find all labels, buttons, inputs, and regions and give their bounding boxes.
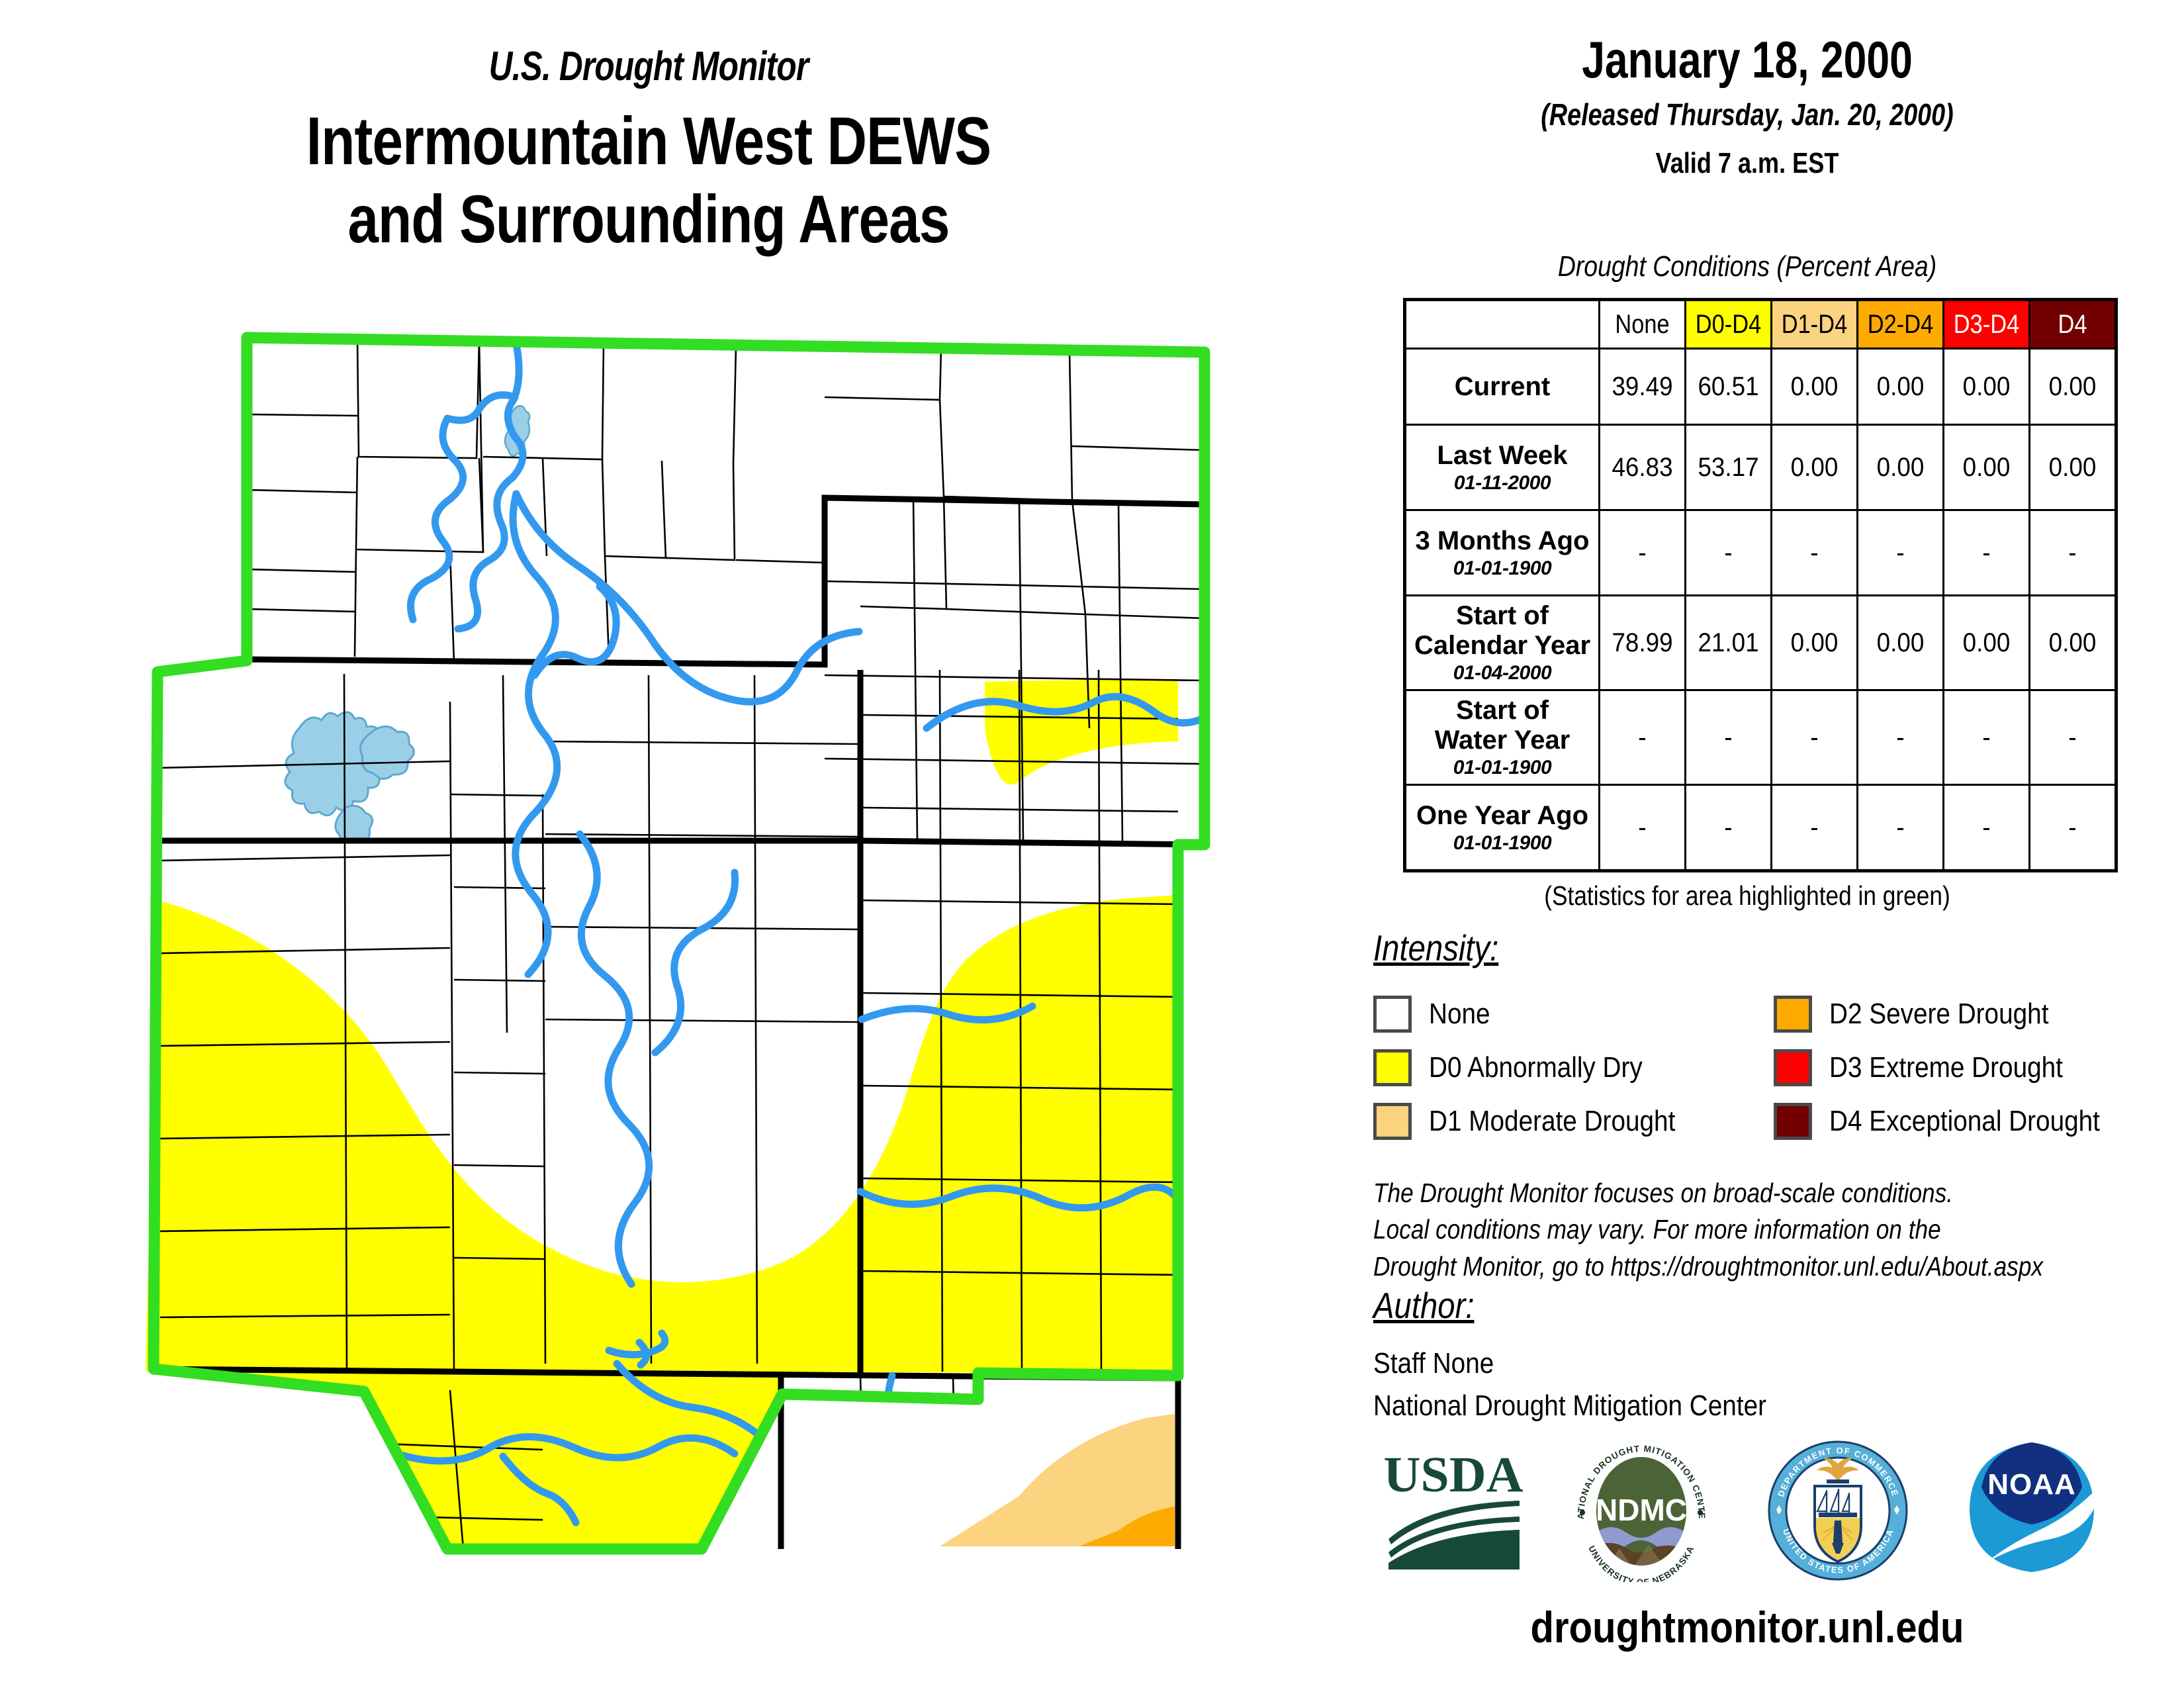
- legend-item-d2: D2 Severe Drought: [1774, 988, 2137, 1041]
- svg-text:NDMC: NDMC: [1596, 1493, 1687, 1527]
- header-blank: [1405, 300, 1600, 349]
- page-eyebrow: U.S. Drought Monitor: [130, 46, 1167, 87]
- cell-scy-d3d4: 0.00: [1944, 596, 2030, 690]
- site-url: droughtmonitor.unl.edu: [1381, 1602, 2115, 1652]
- header-d0-d4: D0-D4: [1686, 300, 1772, 349]
- legend-label-d0: D0 Abnormally Dry: [1429, 1051, 1643, 1084]
- cell-3mo-none: -: [1600, 510, 1686, 596]
- header-d3-d4: D3-D4: [1944, 300, 2030, 349]
- title-block: U.S. Drought Monitor Intermountain West …: [0, 46, 1297, 259]
- legend-label-none: None: [1429, 998, 1490, 1031]
- swatch-d0: [1373, 1049, 1412, 1086]
- table-row: Last Week 01-11-2000 46.83 53.17 0.00 0.…: [1405, 425, 2116, 510]
- cell-1yr-d1d4: -: [1772, 785, 1858, 871]
- map-svg[interactable]: [79, 331, 1310, 1589]
- cell-scy-d2d4: 0.00: [1858, 596, 1944, 690]
- cell-swy-d0d4: -: [1686, 690, 1772, 785]
- cell-lastweek-d0d4: 53.17: [1686, 425, 1772, 510]
- row-label-current: Current: [1405, 349, 1600, 425]
- ndmc-logo: NDMC NATIONAL DROUGHT MITIGATION CENTER …: [1559, 1440, 1724, 1582]
- legend-column-right: D2 Severe Drought D3 Extreme Drought D4 …: [1774, 988, 2137, 1149]
- header-none: None: [1600, 300, 1686, 349]
- cell-current-d1d4: 0.00: [1772, 349, 1858, 425]
- cell-scy-d1d4: 0.00: [1772, 596, 1858, 690]
- cell-1yr-d4: -: [2030, 785, 2116, 871]
- table-row: One Year Ago 01-01-1900 - - - - - -: [1405, 785, 2116, 871]
- statistics-note: (Statistics for area highlighted in gree…: [1388, 880, 2106, 912]
- legend-item-d0: D0 Abnormally Dry: [1373, 1041, 1709, 1094]
- cell-swy-none: -: [1600, 690, 1686, 785]
- legend-label-d2: D2 Severe Drought: [1829, 998, 2048, 1031]
- legend-label-d3: D3 Extreme Drought: [1829, 1051, 2063, 1084]
- author-name: Staff None: [1373, 1342, 1766, 1385]
- disclaimer-text: The Drought Monitor focuses on broad-sca…: [1373, 1175, 2167, 1285]
- cell-1yr-d3d4: -: [1944, 785, 2030, 871]
- cell-current-d4: 0.00: [2030, 349, 2116, 425]
- cell-3mo-d0d4: -: [1686, 510, 1772, 596]
- table-row: Current 39.49 60.51 0.00 0.00 0.00 0.00: [1405, 349, 2116, 425]
- cell-scy-d0d4: 21.01: [1686, 596, 1772, 690]
- swatch-d2: [1774, 996, 1812, 1033]
- cell-current-d2d4: 0.00: [1858, 349, 1944, 425]
- cell-current-none: 39.49: [1600, 349, 1686, 425]
- page-title-line1: Intermountain West DEWS: [116, 102, 1180, 180]
- legend-item-d4: D4 Exceptional Drought: [1774, 1095, 2137, 1148]
- table-row: Start ofWater Year 01-01-1900 - - - - - …: [1405, 690, 2116, 785]
- swatch-none: [1373, 996, 1412, 1033]
- cell-swy-d3d4: -: [1944, 690, 2030, 785]
- legend-column-left: None D0 Abnormally Dry D1 Moderate Droug…: [1373, 988, 1709, 1149]
- cell-1yr-d0d4: -: [1686, 785, 1772, 871]
- drought-statistics-table: None D0-D4 D1-D4 D2-D4 D3-D4 D4 Current …: [1403, 298, 2118, 872]
- header-d4: D4: [2030, 300, 2116, 349]
- intensity-heading: Intensity:: [1373, 927, 1498, 969]
- table-header-row: None D0-D4 D1-D4 D2-D4 D3-D4 D4: [1405, 300, 2116, 349]
- legend-label-d1: D1 Moderate Drought: [1429, 1105, 1675, 1138]
- header-d1-d4: D1-D4: [1772, 300, 1858, 349]
- row-label-start-water-year: Start ofWater Year 01-01-1900: [1405, 690, 1600, 785]
- date-block: January 18, 2000 (Released Thursday, Jan…: [1330, 33, 2164, 180]
- cell-swy-d4: -: [2030, 690, 2116, 785]
- drought-map[interactable]: [79, 331, 1310, 1589]
- row-label-start-calendar-year: Start ofCalendar Year 01-04-2000: [1405, 596, 1600, 690]
- row-label-one-year-ago: One Year Ago 01-01-1900: [1405, 785, 1600, 871]
- cell-swy-d2d4: -: [1858, 690, 1944, 785]
- page-title-line2: and Surrounding Areas: [116, 180, 1180, 258]
- cell-3mo-d2d4: -: [1858, 510, 1944, 596]
- swatch-d3: [1774, 1049, 1812, 1086]
- noaa-logo: NOAA: [1952, 1440, 2111, 1575]
- cell-scy-none: 78.99: [1600, 596, 1686, 690]
- disclaimer-line1: The Drought Monitor focuses on broad-sca…: [1373, 1175, 2056, 1211]
- swatch-d1: [1373, 1103, 1412, 1140]
- cell-3mo-d3d4: -: [1944, 510, 2030, 596]
- table-caption: Drought Conditions (Percent Area): [1393, 250, 2102, 283]
- cell-3mo-d1d4: -: [1772, 510, 1858, 596]
- report-date: January 18, 2000: [1414, 33, 2081, 87]
- row-label-last-week: Last Week 01-11-2000: [1405, 425, 1600, 510]
- cell-scy-d4: 0.00: [2030, 596, 2116, 690]
- author-heading: Author:: [1373, 1284, 1475, 1327]
- cell-current-d3d4: 0.00: [1944, 349, 2030, 425]
- cell-lastweek-d3d4: 0.00: [1944, 425, 2030, 510]
- header-d2-d4: D2-D4: [1858, 300, 1944, 349]
- doc-logo: DEPARTMENT OF COMMERCE UNITED STATES OF …: [1760, 1440, 1916, 1582]
- cell-3mo-d4: -: [2030, 510, 2116, 596]
- legend-item-d1: D1 Moderate Drought: [1373, 1095, 1709, 1148]
- legend-label-d4: D4 Exceptional Drought: [1829, 1105, 2100, 1138]
- svg-text:USDA: USDA: [1384, 1447, 1524, 1503]
- cell-current-d0d4: 60.51: [1686, 349, 1772, 425]
- cell-swy-d1d4: -: [1772, 690, 1858, 785]
- logo-row: USDA NDMC NATIONAL DROUGHT MITIGATION CE…: [1383, 1440, 2131, 1585]
- valid-time: Valid 7 a.m. EST: [1405, 147, 2089, 180]
- cell-lastweek-d1d4: 0.00: [1772, 425, 1858, 510]
- row-label-3-months-ago: 3 Months Ago 01-01-1900: [1405, 510, 1600, 596]
- cell-lastweek-none: 46.83: [1600, 425, 1686, 510]
- svg-text:NOAA: NOAA: [1987, 1468, 2076, 1501]
- table-row: 3 Months Ago 01-01-1900 - - - - - -: [1405, 510, 2116, 596]
- cell-lastweek-d4: 0.00: [2030, 425, 2116, 510]
- legend-item-none: None: [1373, 988, 1709, 1041]
- usda-logo: USDA: [1383, 1440, 1525, 1572]
- legend-item-d3: D3 Extreme Drought: [1774, 1041, 2137, 1094]
- author-block: Staff None National Drought Mitigation C…: [1373, 1342, 1820, 1427]
- swatch-d4: [1774, 1103, 1812, 1140]
- release-date: (Released Thursday, Jan. 20, 2000): [1405, 97, 2089, 132]
- disclaimer-line2: Local conditions may vary. For more info…: [1373, 1211, 2056, 1248]
- table-row: Start ofCalendar Year 01-04-2000 78.99 2…: [1405, 596, 2116, 690]
- cell-lastweek-d2d4: 0.00: [1858, 425, 1944, 510]
- disclaimer-line3: Drought Monitor, go to https://droughtmo…: [1373, 1248, 2056, 1285]
- cell-1yr-none: -: [1600, 785, 1686, 871]
- cell-1yr-d2d4: -: [1858, 785, 1944, 871]
- author-org: National Drought Mitigation Center: [1373, 1385, 1766, 1427]
